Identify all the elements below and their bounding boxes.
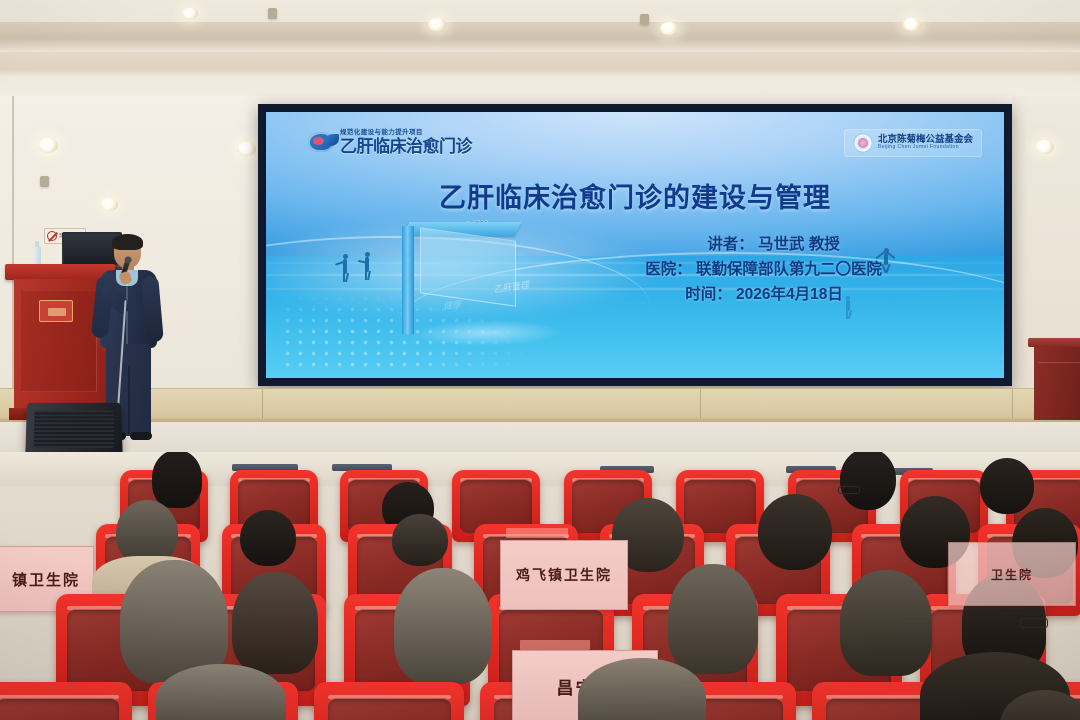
ceiling-downlight: [1035, 140, 1054, 154]
attendee-head: [980, 458, 1034, 514]
attendee-head: [758, 494, 832, 570]
ceiling-downlight: [660, 22, 678, 35]
presenter-leg-seam: [128, 366, 130, 434]
conference-photo-scene: 乙肝临床治愈门诊 乙肝管理 健康: [0, 0, 1080, 720]
seat-placard[interactable]: 卫生院: [948, 542, 1076, 606]
liver-ribbon-logo-icon: [308, 132, 334, 152]
gate-glass-panel: [420, 227, 516, 306]
ceiling-sprinkler: [40, 176, 49, 187]
ceiling-sprinkler: [640, 14, 649, 25]
attendee-glasses: [1020, 618, 1048, 628]
attendee-head: [668, 564, 758, 674]
slide-meta-block: 讲者： 马世武 教授 医院： 联勤保障部队第九二〇医院 时间： 2026年4月1…: [645, 232, 882, 307]
attendee-glasses: [838, 486, 860, 494]
slide-clinic-gate-graphic: 乙肝临床治愈门诊: [402, 222, 518, 334]
side-table-drawer-line: [1038, 362, 1080, 363]
side-table: [1034, 338, 1080, 420]
ceiling-downlight: [237, 142, 256, 156]
gate-post: [402, 226, 414, 334]
attendee-head: [392, 514, 448, 566]
logo-left-title: 乙肝临床治愈门诊: [340, 138, 472, 155]
attendee-head: [840, 570, 932, 676]
seat-placard[interactable]: 鸡飞镇卫生院: [500, 540, 628, 610]
project-logo-left: 规范化建设与能力提升项目 乙肝临床治愈门诊: [308, 130, 472, 155]
audience-seating-area: 镇卫生院 鸡飞镇卫生院: [0, 452, 1080, 720]
attendee-head: [840, 452, 896, 510]
placard-tape: [520, 640, 590, 650]
slide-hospital-line: 医院： 联勤保障部队第九二〇医院: [645, 257, 882, 282]
audience-seat[interactable]: [0, 682, 132, 720]
logo-left-subtitle: 规范化建设与能力提升项目: [340, 130, 472, 137]
ceiling-downlight: [38, 138, 58, 153]
ceiling-sprinkler: [268, 8, 277, 19]
slide-surface: 乙肝临床治愈门诊 乙肝管理 健康: [266, 112, 1004, 378]
ceiling-downlight: [100, 198, 118, 211]
attendee-head: [240, 510, 296, 566]
attendee-head: [394, 568, 492, 684]
audience-seat[interactable]: [314, 682, 464, 720]
slide-speaker-line: 讲者： 马世武 教授: [645, 232, 882, 257]
ceiling-downlight: [428, 18, 446, 31]
placard-tape: [506, 528, 568, 538]
attendee-head: [232, 572, 318, 674]
led-presentation-screen: 乙肝临床治愈门诊 乙肝管理 健康: [258, 104, 1012, 386]
stage-wainscot: [0, 388, 1080, 422]
presenter-hair: [112, 234, 143, 250]
speaker-grill: [34, 411, 115, 448]
no-smoking-icon: [47, 231, 57, 241]
slide-title: 乙肝临床治愈门诊的建设与管理: [266, 176, 1004, 215]
lectern-emblem: [39, 300, 73, 322]
slide-ghost-word: 健康: [444, 297, 463, 313]
seat-placard-text: 鸡飞镇卫生院: [516, 565, 612, 585]
slide-wave-line: [266, 262, 1004, 264]
slide-wave-line: [266, 288, 1004, 290]
slide-wave-line: [266, 274, 1004, 276]
ceiling-downlight: [903, 18, 921, 31]
ceiling-downlight: [182, 8, 198, 19]
slide-date-line: 时间： 2026年4月18日: [645, 282, 882, 307]
seat-placard-text: 卫生院: [991, 566, 1033, 583]
side-table-top: [1028, 338, 1080, 347]
foundation-logo-right: 北京陈菊梅公益基金会 Beijing Chen Jumei Foundation: [844, 129, 982, 157]
attendee-head: [152, 452, 202, 508]
seat-placard-text: 镇卫生院: [12, 569, 80, 590]
gate-floor-reflection: [404, 320, 569, 346]
foundation-name-en: Beijing Chen Jumei Foundation: [878, 145, 973, 151]
plum-blossom-logo-icon: [853, 133, 873, 153]
presenter-shoe: [130, 432, 152, 440]
